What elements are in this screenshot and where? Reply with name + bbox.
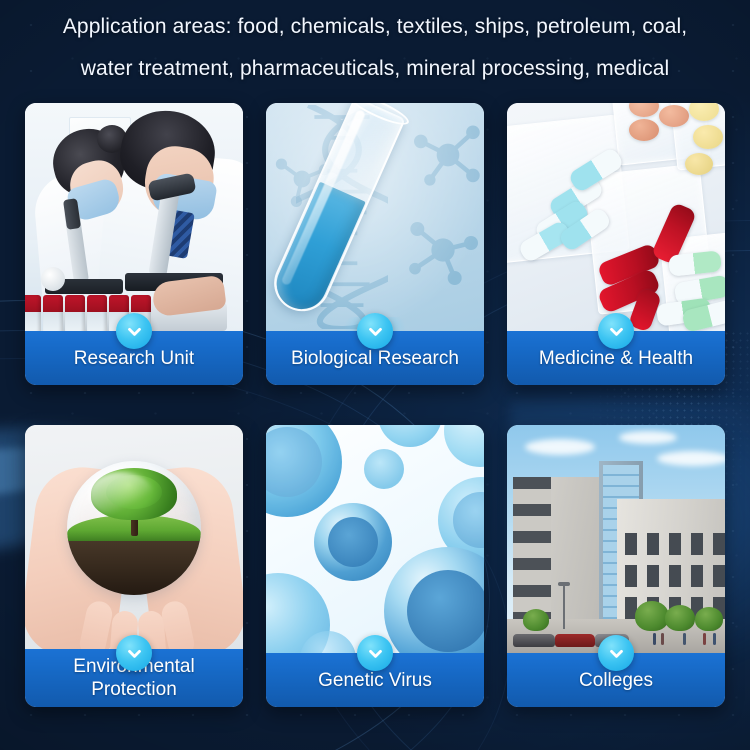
application-areas-grid: Research Unit: [25, 103, 725, 707]
card-label: Medicine & Health: [533, 347, 699, 370]
chevron-down-icon[interactable]: [357, 635, 393, 671]
chevron-down-icon[interactable]: [116, 635, 152, 671]
page-title: Application areas: food, chemicals, text…: [0, 0, 750, 96]
card-image-medicine-health: [507, 103, 725, 331]
application-card-medicine-health[interactable]: Medicine & Health: [507, 103, 725, 385]
card-label: Biological Research: [285, 347, 465, 370]
application-card-genetic-virus[interactable]: Genetic Virus: [266, 425, 484, 707]
application-card-biological-research[interactable]: Biological Research: [266, 103, 484, 385]
chevron-down-icon[interactable]: [598, 635, 634, 671]
glass-sphere-with-tree: [67, 461, 201, 595]
header-line-2: water treatment, pharmaceuticals, minera…: [81, 48, 670, 90]
card-label: Genetic Virus: [312, 669, 438, 692]
card-label: Research Unit: [68, 347, 200, 370]
chevron-down-icon[interactable]: [116, 313, 152, 349]
chevron-down-icon[interactable]: [598, 313, 634, 349]
card-image-biological-research: [266, 103, 484, 331]
application-card-environmental-protection[interactable]: Environmental Protection: [25, 425, 243, 707]
card-image-research-unit: [25, 103, 243, 331]
application-card-research-unit[interactable]: Research Unit: [25, 103, 243, 385]
card-label: Colleges: [573, 669, 659, 692]
card-image-colleges: [507, 425, 725, 653]
chevron-down-icon[interactable]: [357, 313, 393, 349]
card-image-genetic-virus: [266, 425, 484, 653]
application-card-colleges[interactable]: Colleges: [507, 425, 725, 707]
card-image-environmental-protection: [25, 425, 243, 653]
header-line-1: Application areas: food, chemicals, text…: [63, 6, 687, 48]
